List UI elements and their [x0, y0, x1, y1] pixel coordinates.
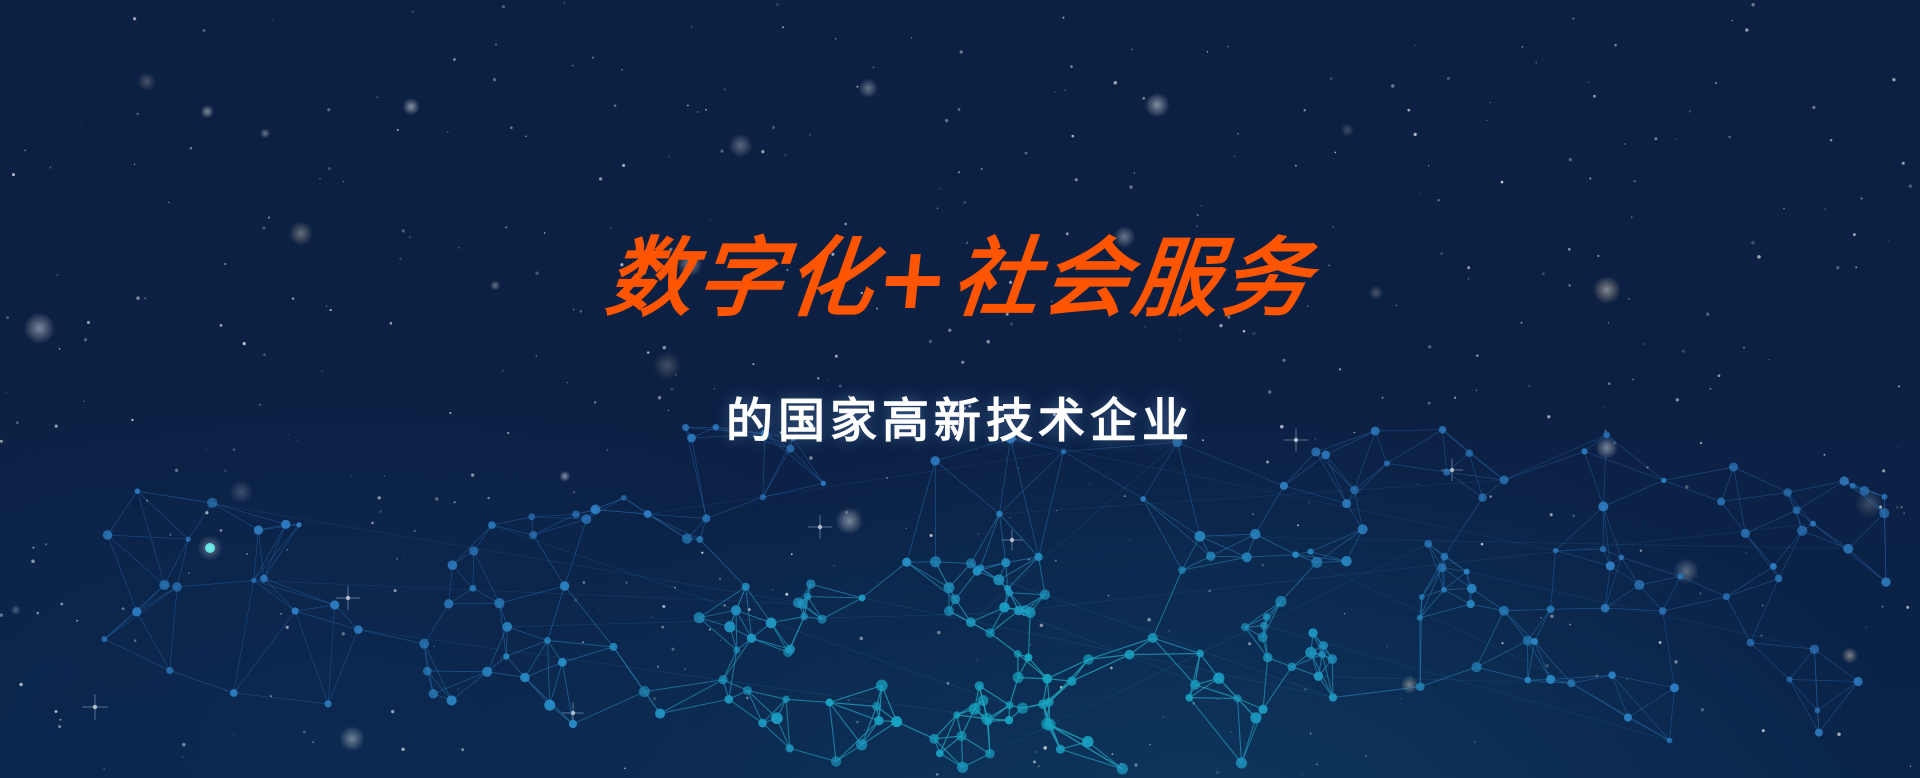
starfield [0, 0, 1920, 778]
subheadline-container: 的国家高新技术企业 [0, 396, 1920, 448]
polygon-network-graphic [0, 0, 1920, 778]
headline-container: 数字化+社会服务 [0, 236, 1920, 324]
headline-subtitle: 的国家高新技术企业 [726, 396, 1194, 448]
hero-banner: 数字化+社会服务 的国家高新技术企业 [0, 0, 1920, 778]
headline-title: 数字化+社会服务 [602, 236, 1317, 324]
